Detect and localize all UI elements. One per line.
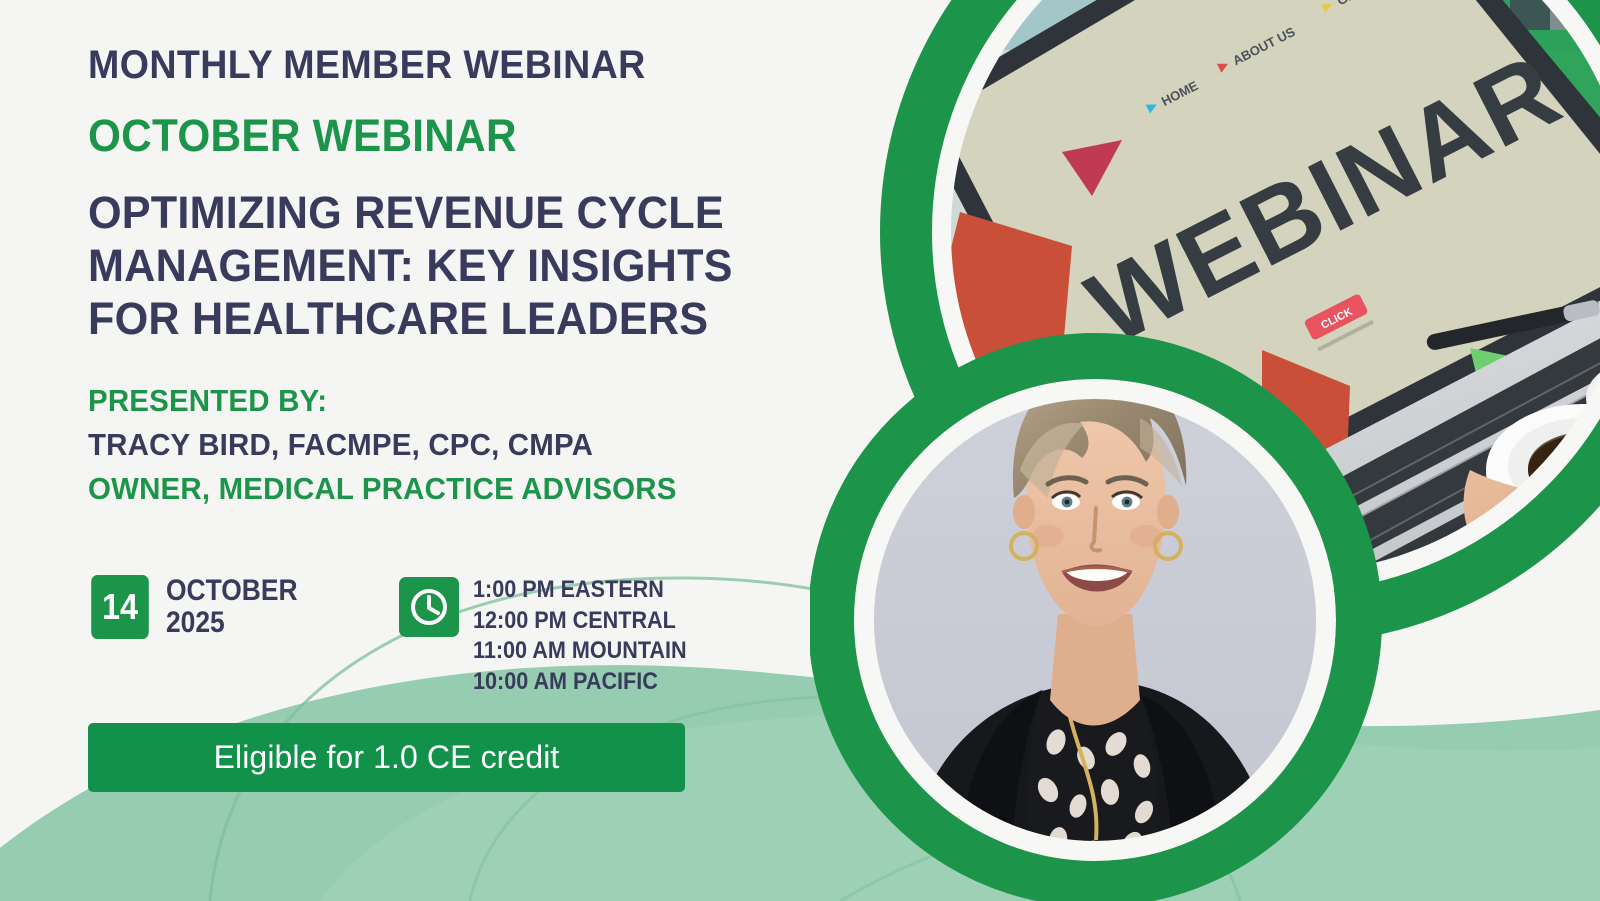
- ce-credit-label: Eligible for 1.0 CE credit: [214, 739, 560, 776]
- time-line-4: 10:00 AM PACIFIC: [473, 667, 687, 698]
- date-badge-day: 14: [91, 575, 149, 639]
- page-title: OPTIMIZING REVENUE CYCLE MANAGEMENT: KEY…: [88, 187, 798, 345]
- time-line-2: 12:00 PM CENTRAL: [473, 606, 687, 637]
- text-column: MONTHLY MEMBER WEBINAR OCTOBER WEBINAR O…: [88, 44, 848, 511]
- artwork-panel: HOME ABOUT US GALLERY CONTACT: [810, 0, 1600, 901]
- month-heading: OCTOBER WEBINAR: [88, 112, 802, 159]
- time-group: 1:00 PM EASTERN 12:00 PM CENTRAL 11:00 A…: [399, 575, 710, 698]
- kicker-heading: MONTHLY MEMBER WEBINAR: [88, 44, 802, 86]
- timezone-list: 1:00 PM EASTERN 12:00 PM CENTRAL 11:00 A…: [473, 575, 687, 698]
- time-line-1: 1:00 PM EASTERN: [473, 575, 687, 606]
- presenter-role: OWNER, MEDICAL PRACTICE ADVISORS: [88, 467, 810, 511]
- clock-icon: [408, 586, 450, 628]
- time-line-3: 11:00 AM MOUNTAIN: [473, 636, 687, 667]
- schedule-row: 14 OCTOBER 2025 1:00 PM EASTERN 12:00 PM…: [88, 575, 711, 698]
- date-year: 2025: [166, 607, 298, 639]
- webinar-promo-poster: HOME ABOUT US GALLERY CONTACT: [0, 0, 1600, 901]
- date-month-year: OCTOBER 2025: [166, 575, 298, 640]
- presented-by-label: PRESENTED BY:: [88, 379, 810, 423]
- presenter-name: TRACY BIRD, FACMPE, CPC, CMPA: [88, 423, 810, 467]
- date-group: 14 OCTOBER 2025: [88, 575, 315, 640]
- presenter-block: PRESENTED BY: TRACY BIRD, FACMPE, CPC, C…: [88, 379, 848, 511]
- ce-credit-banner: Eligible for 1.0 CE credit: [88, 723, 685, 792]
- clock-badge: [399, 577, 459, 637]
- date-month: OCTOBER: [166, 575, 298, 607]
